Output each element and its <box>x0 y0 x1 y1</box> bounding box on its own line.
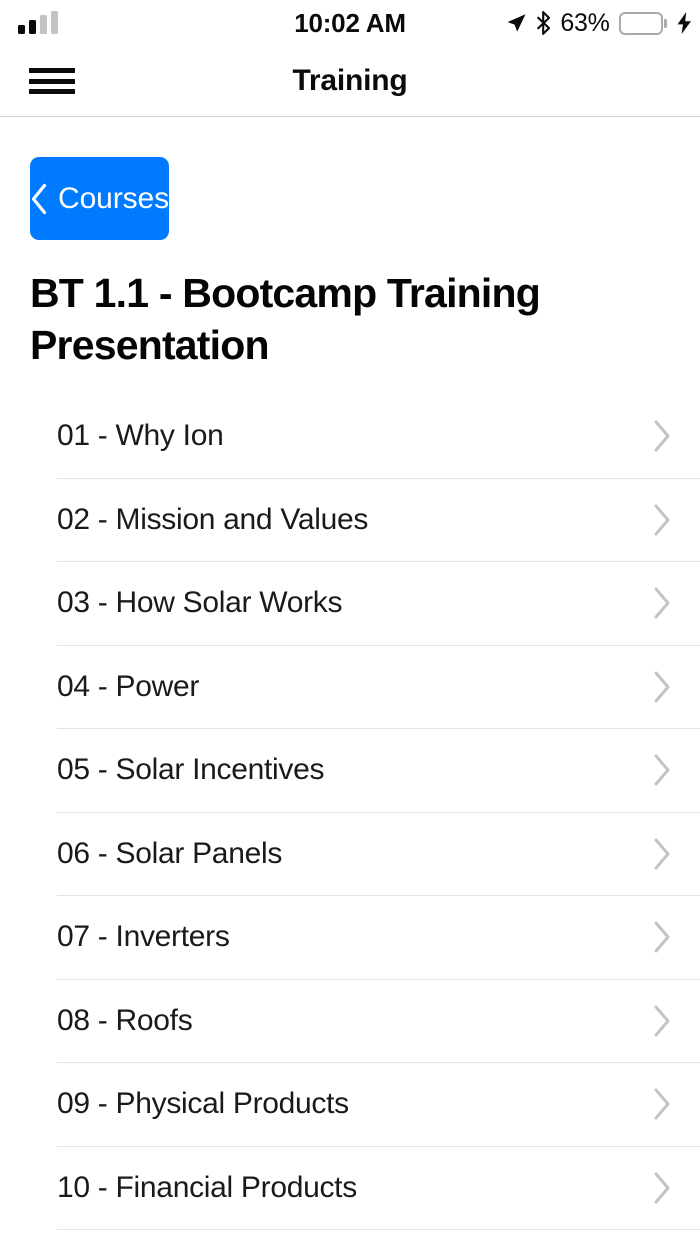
lesson-label: 09 - Physical Products <box>57 1087 349 1121</box>
lesson-list-item[interactable]: 10 - Financial Products <box>57 1147 700 1231</box>
lesson-label: 06 - Solar Panels <box>57 837 282 871</box>
lesson-list-item[interactable]: 08 - Roofs <box>57 980 700 1064</box>
chevron-right-icon <box>652 586 672 620</box>
lesson-list-item[interactable]: 06 - Solar Panels <box>57 813 700 897</box>
lesson-label: 08 - Roofs <box>57 1004 192 1038</box>
lesson-label: 07 - Inverters <box>57 920 230 954</box>
hamburger-menu-icon[interactable] <box>29 68 75 94</box>
chevron-right-icon <box>652 1171 672 1205</box>
chevron-right-icon <box>652 1004 672 1038</box>
status-bar: 10:02 AM 63% <box>0 0 700 46</box>
chevron-right-icon <box>652 920 672 954</box>
lesson-label: 03 - How Solar Works <box>57 586 342 620</box>
navigation-bar: Training <box>0 46 700 117</box>
chevron-right-icon <box>652 753 672 787</box>
bluetooth-icon <box>536 11 551 35</box>
status-bar-right: 63% <box>505 0 692 46</box>
lesson-list-item[interactable]: 01 - Why Ion <box>57 395 700 479</box>
battery-icon <box>619 12 668 35</box>
lesson-list-item[interactable]: 04 - Power <box>57 646 700 730</box>
battery-percentage-label: 63% <box>560 9 609 38</box>
lesson-list-item[interactable]: 07 - Inverters <box>57 896 700 980</box>
lightning-bolt-icon <box>677 12 692 34</box>
lesson-list-item[interactable]: 05 - Solar Incentives <box>57 729 700 813</box>
course-title: BT 1.1 - Bootcamp Training Presentation <box>30 267 670 371</box>
back-to-courses-button[interactable]: Courses <box>30 157 169 240</box>
main-content: Courses BT 1.1 - Bootcamp Training Prese… <box>0 157 700 1230</box>
page-title: Training <box>0 64 700 98</box>
chevron-right-icon <box>652 503 672 537</box>
lesson-list-item[interactable]: 02 - Mission and Values <box>57 479 700 563</box>
lesson-label: 01 - Why Ion <box>57 419 223 453</box>
lesson-list-item[interactable]: 03 - How Solar Works <box>57 562 700 646</box>
lesson-label: 04 - Power <box>57 670 199 704</box>
chevron-right-icon <box>652 837 672 871</box>
lesson-list-item[interactable]: 09 - Physical Products <box>57 1063 700 1147</box>
lesson-label: 02 - Mission and Values <box>57 503 368 537</box>
location-arrow-icon <box>505 12 527 34</box>
chevron-left-icon <box>30 183 48 215</box>
lesson-label: 05 - Solar Incentives <box>57 753 324 787</box>
lesson-label: 10 - Financial Products <box>57 1171 357 1205</box>
chevron-right-icon <box>652 670 672 704</box>
status-bar-clock: 10:02 AM <box>294 8 406 39</box>
chevron-right-icon <box>652 419 672 453</box>
lesson-list: 01 - Why Ion02 - Mission and Values03 - … <box>0 395 700 1230</box>
back-button-label: Courses <box>58 182 169 216</box>
chevron-right-icon <box>652 1087 672 1121</box>
